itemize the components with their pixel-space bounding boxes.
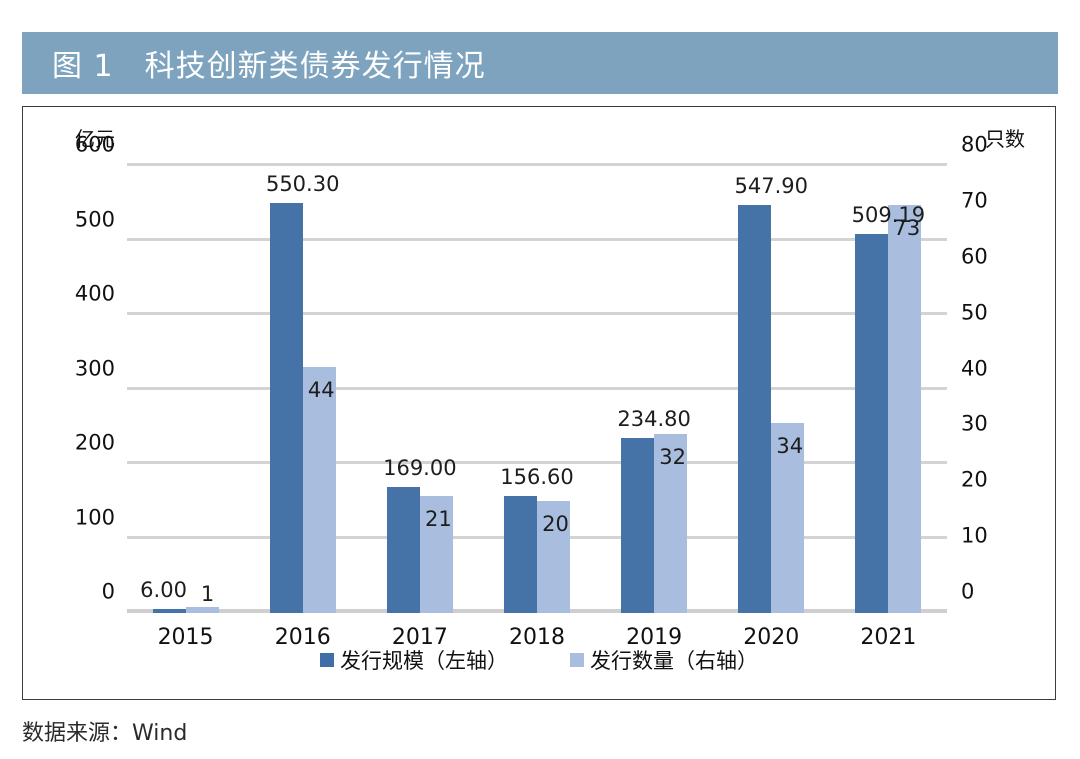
bar-value-label-count: 21 — [425, 509, 452, 530]
bar-value-label-scale: 234.80 — [617, 409, 690, 430]
bar-issue-scale[interactable] — [270, 203, 303, 613]
bar-value-label-scale: 547.90 — [735, 176, 808, 197]
bar-value-label-count: 1 — [201, 584, 214, 605]
right-axis-tick-label: 60 — [961, 246, 988, 267]
bar-group — [361, 166, 478, 613]
left-axis-tick-label: 600 — [75, 135, 115, 156]
legend-swatch-icon-scale — [320, 653, 334, 667]
bar-group — [713, 166, 830, 613]
bar-issue-count[interactable] — [303, 367, 336, 613]
legend-label-count: 发行数量（右轴） — [590, 645, 758, 675]
bar-value-label-scale: 156.60 — [500, 467, 573, 488]
bar-issue-count[interactable] — [186, 607, 219, 613]
bar-series-container: 6.001550.3044169.0021156.6020234.8032547… — [127, 166, 947, 613]
bar-value-label-count: 20 — [542, 514, 569, 535]
right-axis-tick-label: 0 — [961, 582, 974, 603]
right-axis-tick-label: 30 — [961, 414, 988, 435]
source-note: 数据来源：Wind — [22, 715, 187, 747]
bar-group — [127, 166, 244, 613]
right-axis-tick-label: 50 — [961, 302, 988, 323]
bar-value-label-scale: 6.00 — [140, 580, 187, 601]
chart-frame: 亿元 只数 6.001550.3044169.0021156.6020234.8… — [22, 106, 1056, 700]
bar-value-label-scale: 169.00 — [383, 458, 456, 479]
right-axis-tick-label: 70 — [961, 190, 988, 211]
bar-issue-scale[interactable] — [504, 496, 537, 613]
right-axis-unit-label: 只数 — [985, 123, 1025, 152]
bar-group — [830, 166, 947, 613]
left-axis-tick-label: 100 — [75, 507, 115, 528]
bar-group — [244, 166, 361, 613]
chart-legend: 发行规模（左轴） 发行数量（右轴） — [23, 645, 1055, 675]
bar-value-label-scale: 550.30 — [266, 174, 339, 195]
figure-container: 图 1 科技创新类债券发行情况 亿元 只数 6.001550.3044169.0… — [0, 0, 1080, 759]
plot-area: 6.001550.3044169.0021156.6020234.8032547… — [127, 166, 947, 613]
left-axis-tick-label: 500 — [75, 209, 115, 230]
left-axis-tick-label: 0 — [102, 582, 115, 603]
right-axis-tick-label: 20 — [961, 470, 988, 491]
left-axis-tick-label: 300 — [75, 358, 115, 379]
bar-value-label-count: 73 — [894, 218, 921, 239]
bar-issue-scale[interactable] — [153, 609, 186, 613]
bar-value-label-count: 44 — [308, 380, 335, 401]
right-axis-tick-label: 80 — [961, 135, 988, 156]
bar-group — [596, 166, 713, 613]
figure-title-band: 图 1 科技创新类债券发行情况 — [22, 32, 1058, 94]
left-axis-tick-label: 400 — [75, 284, 115, 305]
bar-issue-scale[interactable] — [387, 487, 420, 613]
bar-value-label-count: 34 — [776, 436, 803, 457]
bar-issue-scale[interactable] — [738, 205, 771, 613]
legend-label-scale: 发行规模（左轴） — [340, 645, 508, 675]
right-axis-tick-label: 10 — [961, 526, 988, 547]
right-axis-tick-label: 40 — [961, 358, 988, 379]
bar-issue-scale[interactable] — [621, 438, 654, 613]
legend-item-issue-scale[interactable]: 发行规模（左轴） — [320, 645, 508, 675]
bar-value-label-count: 32 — [659, 447, 686, 468]
bar-issue-count[interactable] — [888, 205, 921, 613]
bar-issue-scale[interactable] — [855, 234, 888, 613]
bar-group — [478, 166, 595, 613]
legend-swatch-icon-count — [570, 653, 584, 667]
page-title: 图 1 科技创新类债券发行情况 — [22, 41, 486, 85]
legend-item-issue-count[interactable]: 发行数量（右轴） — [570, 645, 758, 675]
left-axis-tick-label: 200 — [75, 433, 115, 454]
